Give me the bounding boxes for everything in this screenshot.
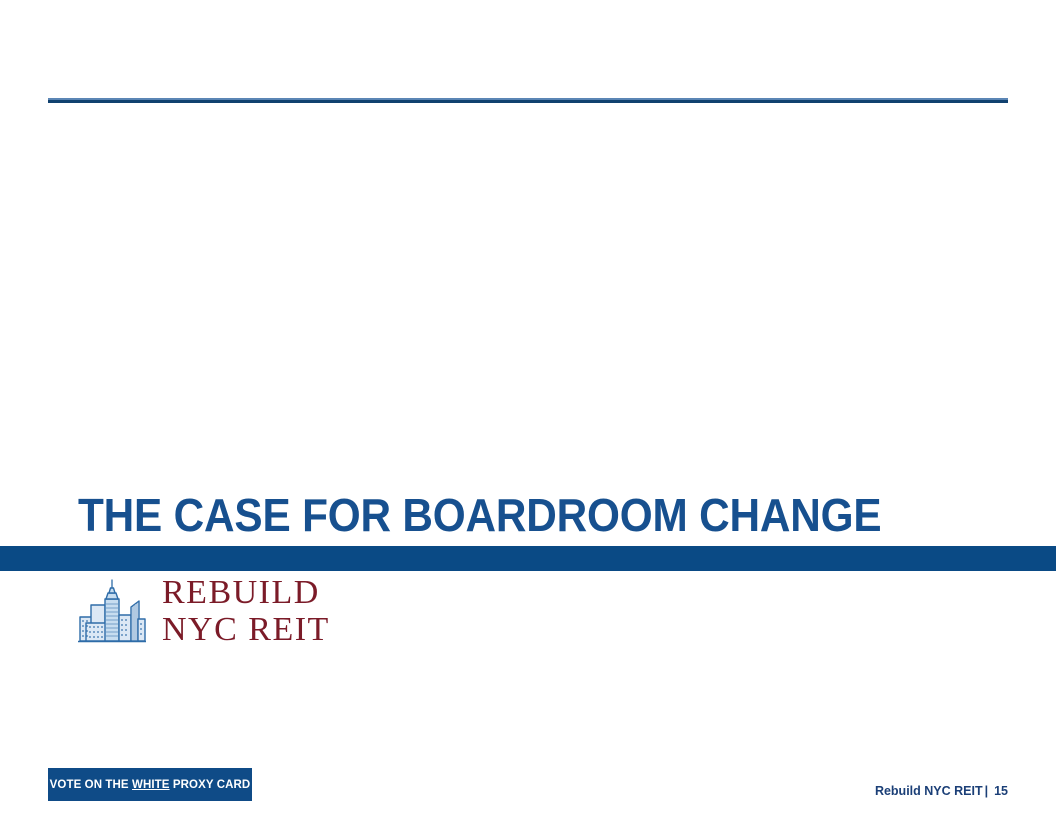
accent-band	[0, 546, 1056, 571]
top-divider-rule	[48, 98, 1008, 103]
logo: REBUILD NYC REIT	[76, 576, 330, 647]
slide-content-area	[48, 112, 1008, 482]
footer-company: Rebuild NYC REIT	[875, 784, 983, 798]
slide-canvas: THE CASE FOR BOARDROOM CHANGE	[0, 0, 1056, 816]
page-title: THE CASE FOR BOARDROOM CHANGE	[78, 488, 906, 542]
vote-badge-text: VOTE ON THE WHITE PROXY CARD	[50, 779, 251, 791]
vote-proxy-card-badge[interactable]: VOTE ON THE WHITE PROXY CARD	[48, 768, 252, 801]
logo-wordmark: REBUILD NYC REIT	[162, 576, 330, 647]
city-skyline-icon	[76, 579, 148, 645]
logo-wordmark-line-1: REBUILD	[162, 576, 330, 610]
footer: Rebuild NYC REIT|15	[875, 784, 1008, 798]
vote-badge-highlight: WHITE	[132, 779, 170, 791]
vote-badge-prefix: VOTE ON THE	[50, 779, 132, 791]
logo-wordmark-line-2: NYC REIT	[162, 613, 330, 647]
footer-separator: |	[983, 784, 991, 798]
footer-page-number: 15	[990, 784, 1008, 798]
vote-badge-suffix: PROXY CARD	[170, 779, 251, 791]
top-divider-dark-line	[48, 100, 1008, 103]
